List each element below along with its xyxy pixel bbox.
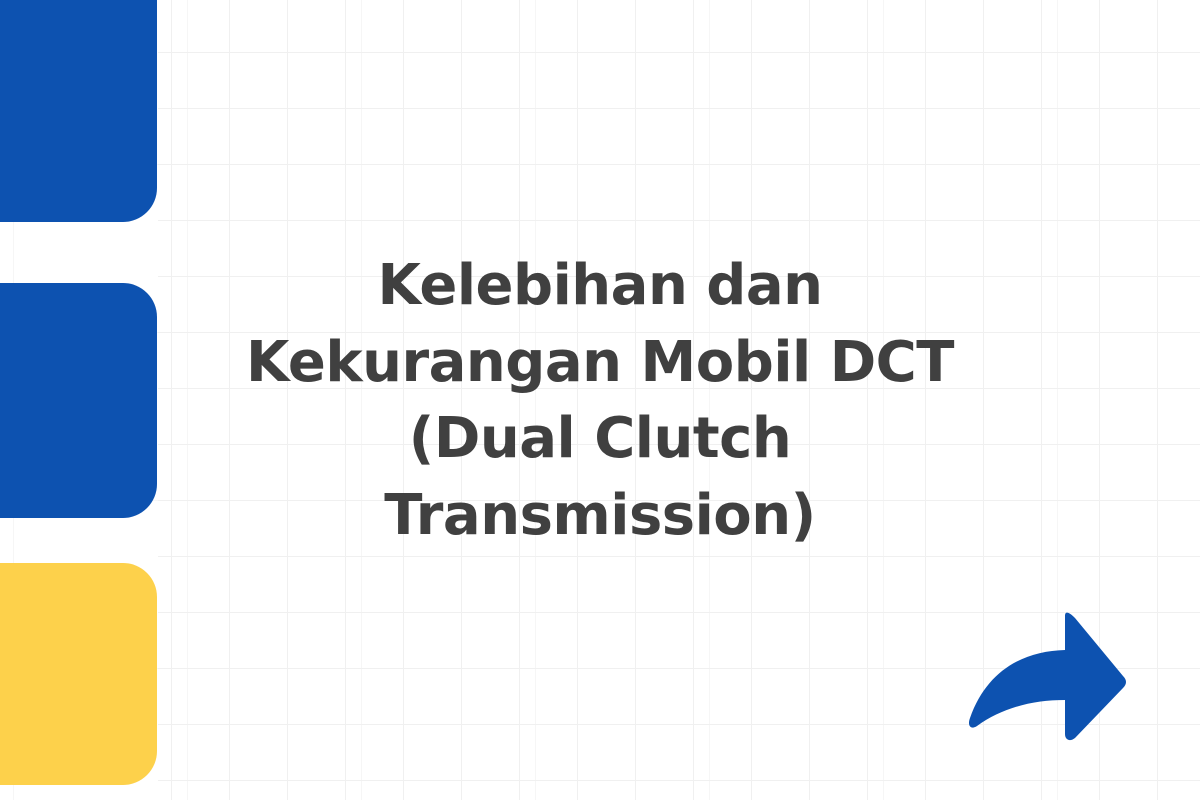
middle-blue-block (0, 283, 157, 518)
article-thumbnail-card: Kelebihan dan Kekurangan Mobil DCT (Dual… (0, 0, 1200, 800)
top-blue-block (0, 0, 157, 222)
bottom-yellow-block (0, 563, 157, 785)
page-title: Kelebihan dan Kekurangan Mobil DCT (Dual… (200, 248, 1000, 555)
share-forward-arrow-icon[interactable] (962, 612, 1128, 752)
